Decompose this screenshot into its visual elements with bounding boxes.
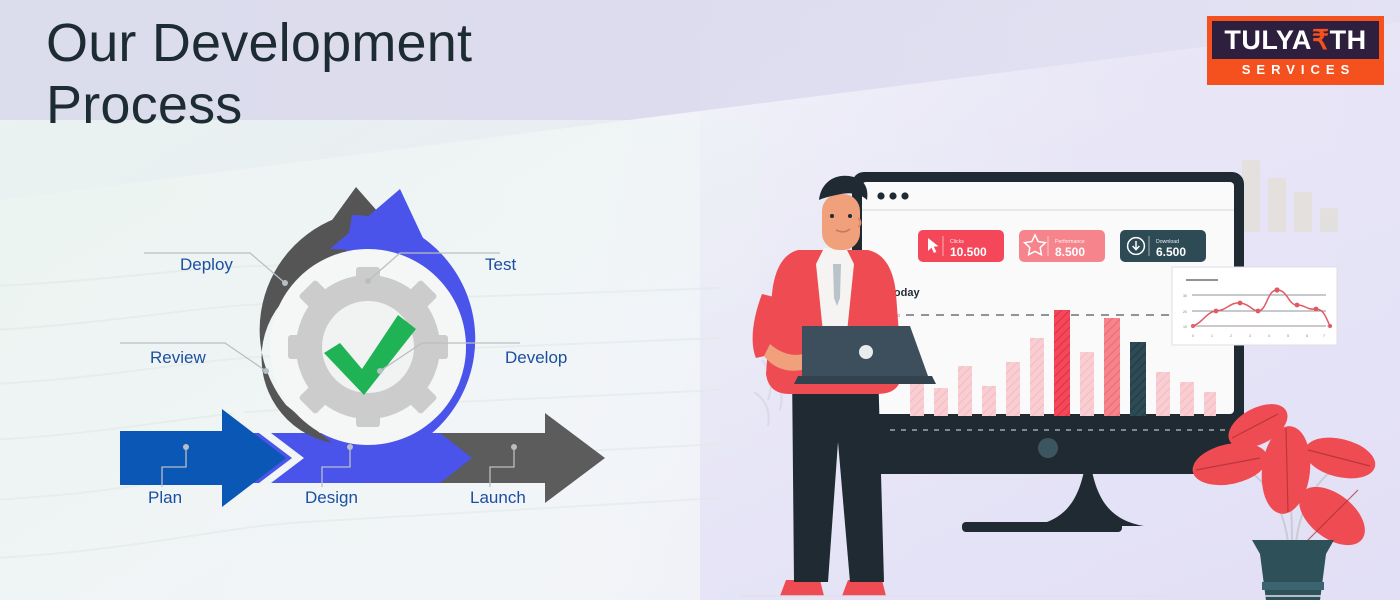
stat-card-download-value: 6.500 bbox=[1156, 245, 1186, 259]
shoe-right bbox=[842, 580, 886, 596]
svg-text:5: 5 bbox=[1287, 334, 1289, 338]
diagram-label-deploy: Deploy bbox=[180, 255, 233, 275]
rupee-icon: ₹ bbox=[1312, 25, 1330, 55]
arrow-plan[interactable] bbox=[120, 409, 286, 507]
brand-logo-name-box: TULYA₹TH bbox=[1212, 21, 1379, 59]
svg-text:1: 1 bbox=[1211, 334, 1213, 338]
stat-card-performance[interactable]: Performance 8.500 bbox=[1019, 230, 1105, 262]
diagram-label-design: Design bbox=[305, 488, 358, 508]
svg-text:2: 2 bbox=[1230, 334, 1232, 338]
diagram-label-review: Review bbox=[150, 348, 206, 368]
svg-text:10: 10 bbox=[1183, 325, 1187, 329]
page-title-line-2: Process bbox=[46, 74, 686, 136]
brand-logo-name-part1: TULYA bbox=[1224, 25, 1312, 55]
poster-canvas: Our Development Process TULYA₹TH SERVICE… bbox=[0, 0, 1400, 600]
diagram-label-test: Test bbox=[485, 255, 516, 275]
plant-pot bbox=[1252, 540, 1334, 600]
person-pants bbox=[792, 366, 884, 582]
svg-text:3: 3 bbox=[1249, 334, 1251, 338]
diagram-label-develop: Develop bbox=[505, 348, 567, 368]
page-title: Our Development Process bbox=[46, 12, 686, 136]
shoe-left bbox=[780, 580, 824, 596]
brand-logo-tagline-box: SERVICES bbox=[1212, 59, 1379, 80]
svg-text:7: 7 bbox=[1323, 334, 1325, 338]
process-diagram: Deploy Review Test Develop Plan Design L… bbox=[100, 175, 640, 535]
line-chart-card[interactable]: 302010 012 345 67 bbox=[1172, 267, 1337, 345]
window-dots-icon bbox=[877, 192, 908, 199]
svg-text:4: 4 bbox=[1268, 334, 1270, 338]
person-face bbox=[822, 194, 860, 250]
diagram-label-launch: Launch bbox=[470, 488, 526, 508]
brand-logo-name-part2: TH bbox=[1330, 25, 1367, 55]
svg-text:30: 30 bbox=[1183, 294, 1187, 298]
svg-text:20: 20 bbox=[1183, 310, 1187, 314]
stat-card-clicks[interactable]: Clicks 10.500 bbox=[918, 230, 1004, 262]
page-title-line-1: Our Development bbox=[46, 12, 686, 74]
stat-card-clicks-value: 10.500 bbox=[950, 245, 987, 259]
brand-logo-tagline: SERVICES bbox=[1236, 63, 1356, 76]
brand-logo-name: TULYA₹TH bbox=[1224, 27, 1366, 54]
dashboard-illustration: Clicks 10.500 Performance 8.500 Download… bbox=[740, 130, 1400, 600]
stat-card-download[interactable]: Download 6.500 bbox=[1120, 230, 1206, 262]
monitor-power-dot bbox=[1038, 438, 1058, 458]
diagram-label-plan: Plan bbox=[148, 488, 182, 508]
brand-logo[interactable]: TULYA₹TH SERVICES bbox=[1207, 16, 1384, 85]
svg-text:6: 6 bbox=[1306, 334, 1308, 338]
svg-text:0: 0 bbox=[1192, 334, 1194, 338]
stat-card-performance-value: 8.500 bbox=[1055, 245, 1085, 259]
